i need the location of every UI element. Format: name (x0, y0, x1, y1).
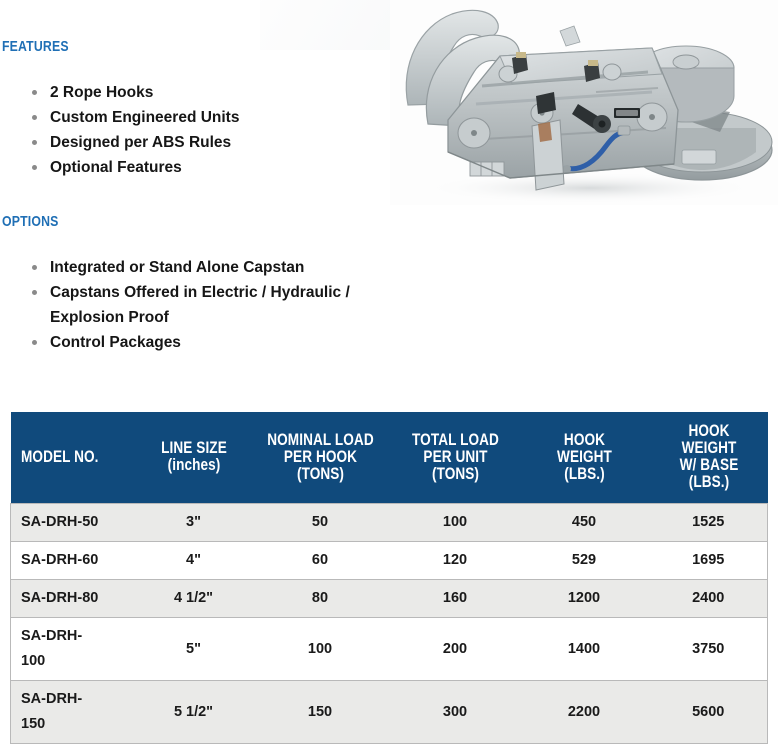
cell-hook-weight-with-base: 1695 (650, 541, 768, 579)
header-line: PER HOOK (266, 448, 374, 465)
table-header-row: MODEL NO. LINE SIZE (inches) NOMINAL LOA… (11, 412, 768, 503)
column-header-hook-weight: HOOK WEIGHT (LBS.) (519, 412, 650, 503)
cell-hook-weight-with-base: 3750 (650, 617, 768, 680)
header-line: (LBS.) (665, 473, 753, 490)
list-item: Designed per ABS Rules (28, 130, 388, 155)
header-line: LINE SIZE (153, 439, 235, 456)
model-line: SA-DRH- (21, 624, 135, 649)
column-header-total-load-per-unit: TOTAL LOAD PER UNIT (TONS) (392, 412, 519, 503)
specifications-table: MODEL NO. LINE SIZE (inches) NOMINAL LOA… (10, 412, 768, 744)
header-line: (TONS) (407, 465, 502, 482)
cell-nominal-load-per-hook: 100 (249, 617, 392, 680)
cell-total-load-per-unit: 200 (392, 617, 519, 680)
cell-model-no: SA-DRH- 100 (11, 617, 139, 680)
header-line: MODEL NO. (21, 448, 112, 465)
header-line: (inches) (153, 456, 235, 473)
table-row: SA-DRH-60 4" 60 120 529 1695 (11, 541, 768, 579)
table-row: SA-DRH- 100 5" 100 200 1400 3750 (11, 617, 768, 680)
header-line: HOOK WEIGHT (535, 431, 633, 465)
model-line: SA-DRH-60 (21, 548, 135, 573)
header-line: (LBS.) (535, 465, 633, 482)
table-row: SA-DRH- 150 5 1/2" 150 300 2200 5600 (11, 680, 768, 743)
options-list: Integrated or Stand Alone Capstan Capsta… (28, 255, 408, 355)
cell-hook-weight: 1200 (519, 579, 650, 617)
cell-total-load-per-unit: 120 (392, 541, 519, 579)
table-row: SA-DRH-50 3" 50 100 450 1525 (11, 503, 768, 541)
cell-model-no: SA-DRH- 150 (11, 680, 139, 743)
cell-hook-weight-with-base: 2400 (650, 579, 768, 617)
table-row: SA-DRH-80 4 1/2" 80 160 1200 2400 (11, 579, 768, 617)
cell-total-load-per-unit: 100 (392, 503, 519, 541)
table-body: SA-DRH-50 3" 50 100 450 1525 SA-DRH-60 4… (11, 503, 768, 743)
options-heading: OPTIONS (2, 213, 59, 230)
header-line: W/ BASE (665, 456, 753, 473)
product-photo (390, 0, 778, 205)
model-line: SA-DRH-50 (21, 510, 135, 535)
list-item: 2 Rope Hooks (28, 80, 388, 105)
table-header: MODEL NO. LINE SIZE (inches) NOMINAL LOA… (11, 412, 768, 503)
features-heading: FEATURES (2, 38, 69, 55)
cell-line-size: 3" (139, 503, 249, 541)
cell-hook-weight-with-base: 5600 (650, 680, 768, 743)
column-header-nominal-load-per-hook: NOMINAL LOAD PER HOOK (TONS) (249, 412, 392, 503)
cell-line-size: 5" (139, 617, 249, 680)
cell-model-no: SA-DRH-60 (11, 541, 139, 579)
cell-line-size: 4 1/2" (139, 579, 249, 617)
model-line: SA-DRH-80 (21, 586, 135, 611)
header-line: PER UNIT (407, 448, 502, 465)
double-rope-hook-illustration (390, 0, 778, 205)
list-item: Capstans Offered in Electric / Hydraulic… (28, 280, 408, 330)
cell-hook-weight-with-base: 1525 (650, 503, 768, 541)
header-line: NOMINAL LOAD (266, 431, 374, 448)
column-header-model-no: MODEL NO. (11, 412, 139, 503)
column-header-hook-weight-with-base: HOOK WEIGHT W/ BASE (LBS.) (650, 412, 768, 503)
cell-hook-weight: 2200 (519, 680, 650, 743)
cell-hook-weight: 1400 (519, 617, 650, 680)
cell-nominal-load-per-hook: 150 (249, 680, 392, 743)
column-header-line-size: LINE SIZE (inches) (139, 412, 249, 503)
top-content-area: FEATURES 2 Rope Hooks Custom Engineered … (0, 0, 778, 398)
model-line: 100 (21, 649, 135, 674)
features-list: 2 Rope Hooks Custom Engineered Units Des… (28, 80, 388, 180)
cell-total-load-per-unit: 160 (392, 579, 519, 617)
model-line: SA-DRH- (21, 687, 135, 712)
cell-model-no: SA-DRH-50 (11, 503, 139, 541)
header-line: HOOK WEIGHT (665, 422, 753, 456)
cell-model-no: SA-DRH-80 (11, 579, 139, 617)
cell-line-size: 4" (139, 541, 249, 579)
cell-nominal-load-per-hook: 50 (249, 503, 392, 541)
cell-hook-weight: 529 (519, 541, 650, 579)
list-item: Control Packages (28, 330, 408, 355)
list-item: Integrated or Stand Alone Capstan (28, 255, 408, 280)
cell-hook-weight: 450 (519, 503, 650, 541)
cell-nominal-load-per-hook: 80 (249, 579, 392, 617)
list-item: Optional Features (28, 155, 388, 180)
cell-nominal-load-per-hook: 60 (249, 541, 392, 579)
cell-line-size: 5 1/2" (139, 680, 249, 743)
list-item: Custom Engineered Units (28, 105, 388, 130)
model-line: 150 (21, 712, 135, 737)
header-line: TOTAL LOAD (407, 431, 502, 448)
cell-total-load-per-unit: 300 (392, 680, 519, 743)
header-line: (TONS) (266, 465, 374, 482)
